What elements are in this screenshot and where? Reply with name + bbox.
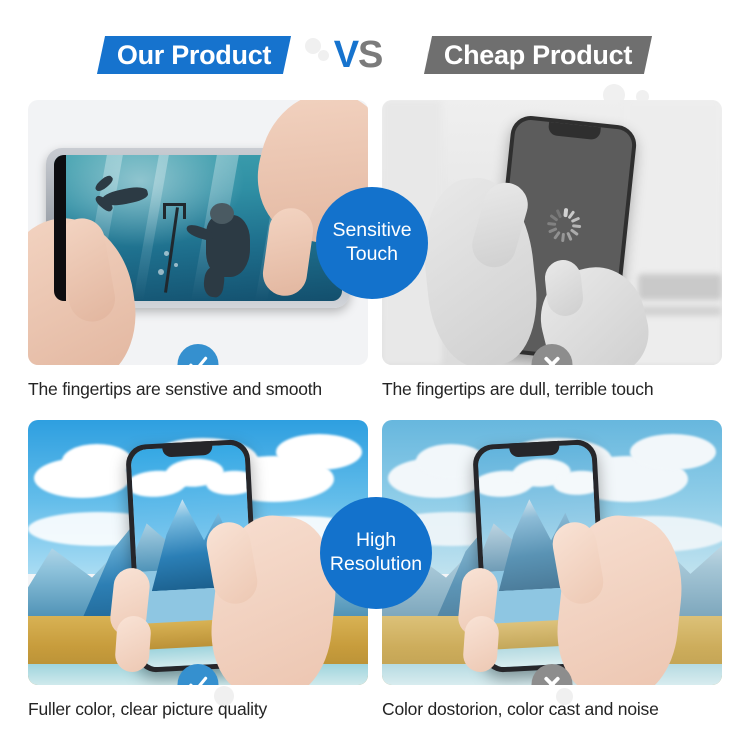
callout-resolution-line1: High [324,529,428,553]
phone-notch [548,122,601,140]
game-trident [164,207,179,293]
vs-logo: VS [334,36,383,74]
photo-our-resolution [28,420,368,685]
game-diver-main-leg [202,266,226,298]
cell-cheap-resolution: Color dostorion, color cast and noise [382,420,722,720]
callout-sensitive-touch: Sensitive Touch [316,187,428,299]
caption-cheap-resolution: Color dostorion, color cast and noise [382,699,722,720]
finger [114,615,152,673]
vs-letter-s: S [358,34,382,76]
caption-cheap-touch: The fingertips are dull, terrible touch [382,379,722,400]
caption-our-resolution: Fuller color, clear picture quality [28,699,368,720]
our-product-label: Our Product [117,40,271,71]
phone-notch [509,441,560,458]
comparison-infographic: Our Product VS Cheap Product [0,0,750,750]
finger [462,615,500,673]
check-icon [187,673,210,685]
game-trident-head [163,203,186,219]
comparison-grid: The fingertips are senstive and smooth [0,100,750,740]
caption-our-touch: The fingertips are senstive and smooth [28,379,368,400]
our-product-banner: Our Product [97,36,291,74]
check-icon [187,353,210,365]
cell-our-resolution: Fuller color, clear picture quality [28,420,368,720]
cross-icon [542,674,563,685]
cheap-product-label: Cheap Product [444,40,632,71]
cell-cheap-touch: The fingertips are dull, terrible touch [382,100,722,400]
phone-notch [54,155,66,301]
cheap-product-banner: Cheap Product [424,36,652,74]
callout-resolution-line2: Resolution [324,553,428,577]
loading-spinner-icon [546,207,583,244]
photo-cheap-resolution [382,420,722,685]
vs-letter-v: V [334,34,358,76]
callout-touch-line1: Sensitive [326,219,417,243]
game-diver-main-head [210,203,234,224]
check-badge [178,344,219,365]
callout-touch-line2: Touch [326,243,417,267]
cross-icon [542,354,563,365]
phone-notch [162,441,213,458]
callout-high-resolution: High Resolution [320,497,432,609]
header-banner-row: Our Product VS Cheap Product [0,22,750,88]
photo-cheap-touch [382,100,722,365]
